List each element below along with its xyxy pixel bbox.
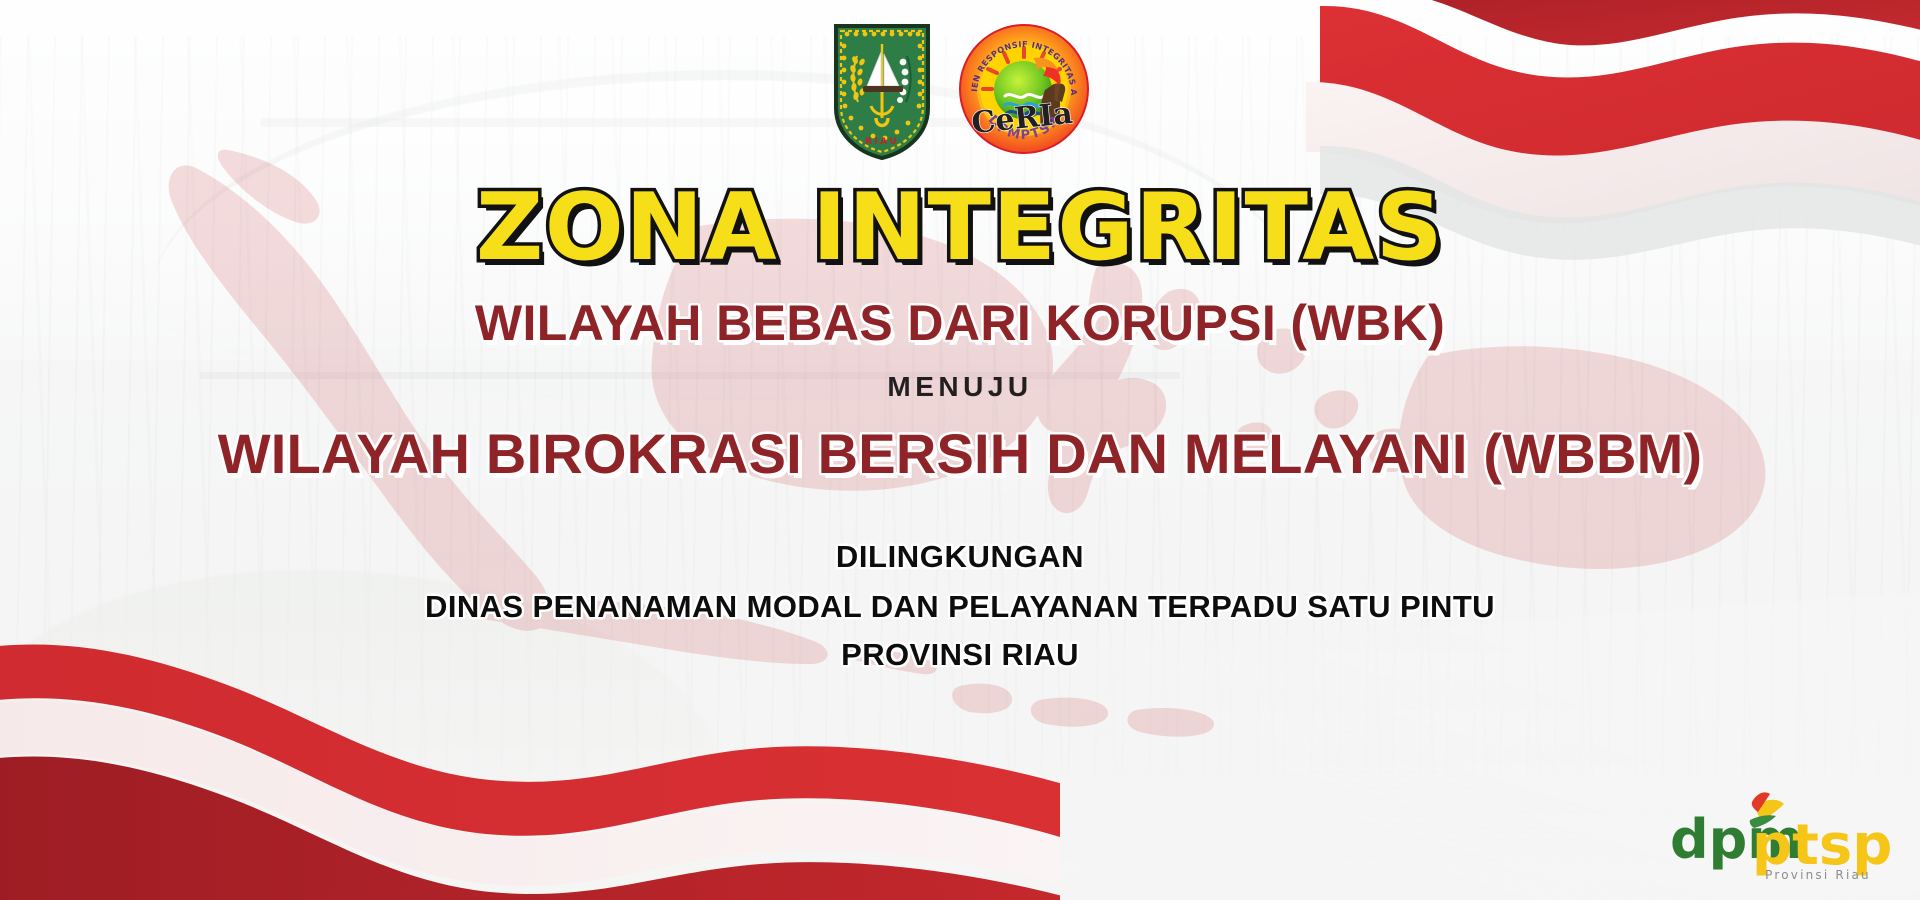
brand-tagline: Provinsi Riau — [1765, 868, 1871, 882]
banner-content: ZONA INTEGRITAS WILAYAH BEBAS DARI KORUP… — [0, 0, 1920, 900]
organization-name: DINAS PENANAMAN MODAL DAN PELAYANAN TERP… — [425, 589, 1495, 625]
zona-integritas-banner: RIAU — [0, 0, 1920, 900]
goal-wbbm: WILAYAH BIROKRASI BERSIH DAN MELAYANI (W… — [218, 425, 1703, 483]
region-name: PROVINSI RIAU — [841, 637, 1079, 673]
connector-text: MENUJU — [887, 371, 1032, 403]
subheadline-wbk: WILAYAH BEBAS DARI KORUPSI (WBK) — [475, 297, 1445, 349]
scope-label: DILINGKUNGAN — [836, 539, 1084, 575]
dpmptsp-brand-logo: dpm ptsp Provinsi Riau — [1666, 776, 1898, 884]
headline: ZONA INTEGRITAS — [476, 182, 1444, 273]
